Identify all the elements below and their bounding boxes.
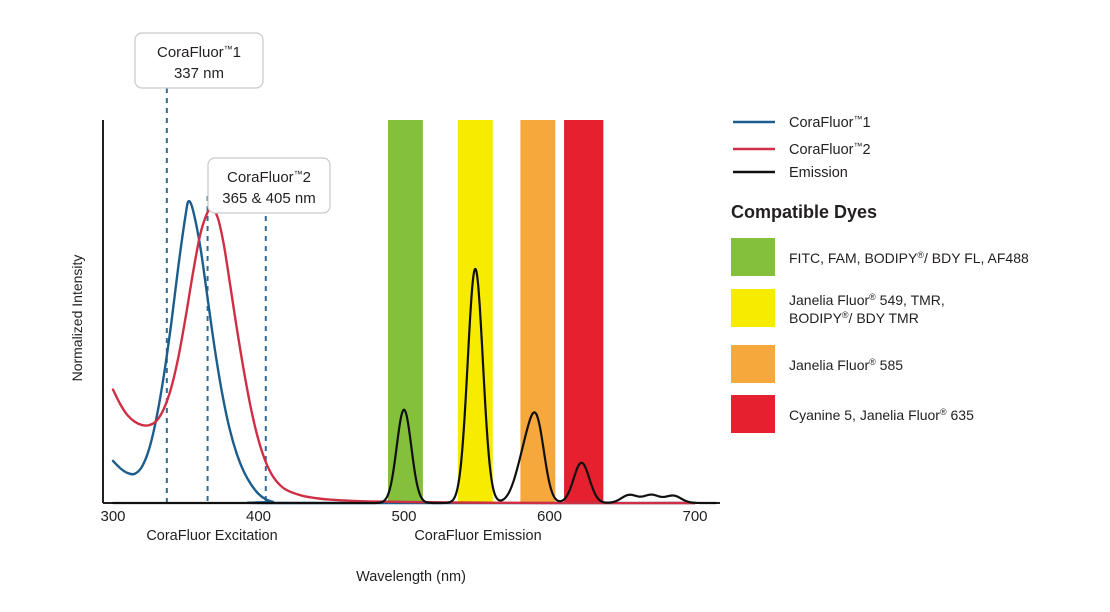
spectra-chart: 300400500600700 CoraFluor Excitation Cor… (0, 0, 1110, 612)
legend-label-1: CoraFluor™2 (789, 141, 871, 158)
compatible-dyes-list: FITC, FAM, BODIPY®/ BDY FL, AF488Janelia… (731, 238, 1029, 433)
dye-bands-group (388, 120, 603, 503)
dye-label-1-b: BODIPY®/ BDY TMR (789, 310, 919, 326)
red-band (564, 120, 603, 503)
x-tick-700: 700 (682, 508, 707, 525)
x-tick-labels: 300400500600700 (100, 508, 707, 525)
figure-root: 300400500600700 CoraFluor Excitation Cor… (0, 0, 1110, 612)
callout-corafluor1: CoraFluor™1337 nm (135, 33, 263, 88)
x-axis-title: Wavelength (nm) (356, 569, 466, 585)
dye-swatch-0 (731, 238, 775, 276)
x-tick-600: 600 (537, 508, 562, 525)
orange-band (520, 120, 555, 503)
callout-value-corafluor2: 365 & 405 nm (222, 190, 315, 207)
y-axis-title: Normalized Intensity (69, 255, 85, 382)
green-band (388, 120, 423, 503)
dye-label-2-a: Janelia Fluor® 585 (789, 357, 903, 373)
legend-label-2: Emission (789, 165, 848, 181)
x-tick-400: 400 (246, 508, 271, 525)
caption-emission: CoraFluor Emission (414, 528, 541, 544)
series-legend: CoraFluor™1CoraFluor™2Emission (733, 114, 871, 181)
dye-label-1-a: Janelia Fluor® 549, TMR, (789, 292, 945, 308)
dye-swatch-1 (731, 289, 775, 327)
callout-value-corafluor1: 337 nm (174, 65, 224, 82)
dye-swatch-2 (731, 345, 775, 383)
dye-label-3-a: Cyanine 5, Janelia Fluor® 635 (789, 407, 974, 423)
compatible-dyes-heading: Compatible Dyes (731, 202, 877, 222)
dye-swatch-3 (731, 395, 775, 433)
x-tick-300: 300 (100, 508, 125, 525)
caption-excitation: CoraFluor Excitation (146, 528, 277, 544)
legend-label-0: CoraFluor™1 (789, 114, 871, 131)
x-tick-500: 500 (391, 508, 416, 525)
excitation-marker-lines (167, 88, 266, 503)
dye-label-0-a: FITC, FAM, BODIPY®/ BDY FL, AF488 (789, 250, 1029, 266)
callout-boxes-group: CoraFluor™1337 nmCoraFluor™2365 & 405 nm (135, 33, 330, 213)
callout-corafluor2: CoraFluor™2365 & 405 nm (208, 158, 330, 213)
